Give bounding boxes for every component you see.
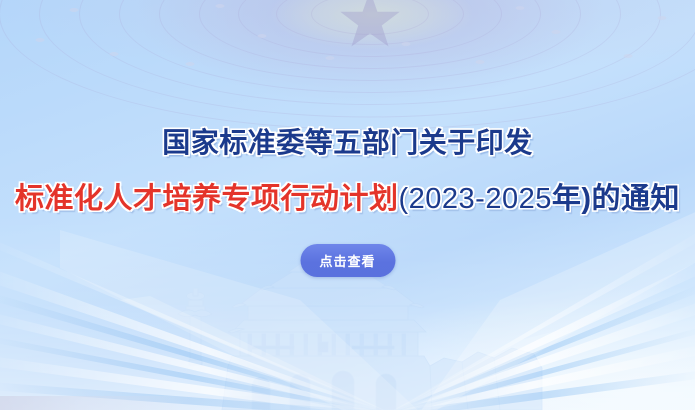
page-title-line-2: 标准化人才培养专项行动计划(2023-2025年)的通知 xyxy=(0,181,695,217)
notice-banner: 国家标准委等五部门关于印发 标准化人才培养专项行动计划(2023-2025年)的… xyxy=(0,0,695,410)
page-title-tail-segment: 的通知 xyxy=(592,183,681,215)
view-notice-button[interactable]: 点击查看 xyxy=(300,244,395,277)
page-title-year-range: (2023-2025 xyxy=(398,183,551,215)
page-title-red-segment: 标准化人才培养专项行动计划 xyxy=(15,183,399,215)
banner-content: 国家标准委等五部门关于印发 标准化人才培养专项行动计划(2023-2025年)的… xyxy=(0,0,695,410)
page-title-line-1: 国家标准委等五部门关于印发 xyxy=(0,126,695,160)
page-title-year-suffix: 年) xyxy=(552,183,592,215)
